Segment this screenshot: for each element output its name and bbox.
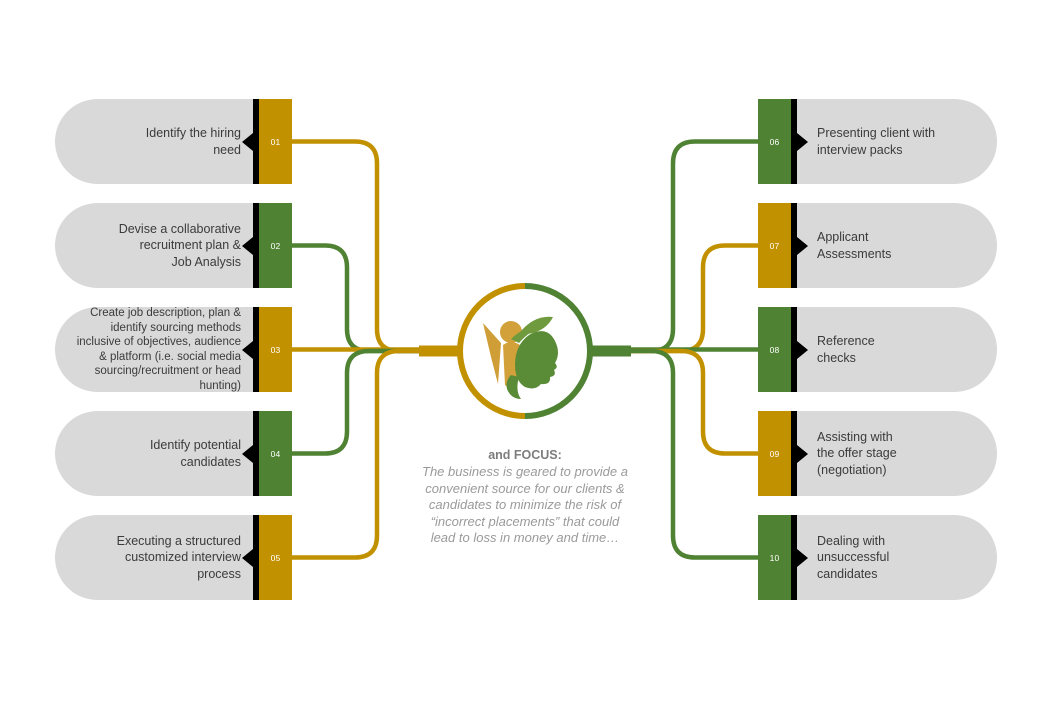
- step-card-02-number: 02: [259, 203, 292, 288]
- step-card-07-number: 07: [758, 203, 791, 288]
- connector-04: [292, 351, 425, 454]
- step-card-05-body: Executing a structured customized interv…: [55, 515, 253, 600]
- step-card-05-number: 05: [259, 515, 292, 600]
- step-card-09[interactable]: 09 Assisting with the offer stage (negot…: [758, 411, 997, 496]
- step-card-10[interactable]: 10 Dealing with unsuccessful candidates: [758, 515, 997, 600]
- connector-09: [625, 351, 758, 454]
- connector-01: [292, 142, 425, 352]
- step-card-05[interactable]: Executing a structured customized interv…: [55, 515, 292, 600]
- step-card-02-label: Devise a collaborative recruitment plan …: [119, 221, 241, 271]
- step-card-03-body: Create job description, plan & identify …: [55, 307, 253, 392]
- step-card-08-body: Reference checks: [797, 307, 997, 392]
- step-card-06-label: Presenting client with interview packs: [817, 125, 935, 158]
- step-card-01-body: Identify the hiring need: [55, 99, 253, 184]
- arrow-icon: [242, 237, 253, 255]
- step-card-02-body: Devise a collaborative recruitment plan …: [55, 203, 253, 288]
- step-card-10-label: Dealing with unsuccessful candidates: [817, 533, 889, 583]
- arrow-icon: [242, 549, 253, 567]
- step-card-04[interactable]: Identify potential candidates 04: [55, 411, 292, 496]
- connector-06: [625, 142, 758, 352]
- step-card-10-number: 10: [758, 515, 791, 600]
- step-card-03[interactable]: Create job description, plan & identify …: [55, 307, 292, 392]
- diagram-canvas: and FOCUS: The business is geared to pro…: [0, 0, 1040, 720]
- step-card-04-number: 04: [259, 411, 292, 496]
- step-card-02[interactable]: Devise a collaborative recruitment plan …: [55, 203, 292, 288]
- step-card-06-number: 06: [758, 99, 791, 184]
- arrow-icon: [797, 549, 808, 567]
- step-card-07-label: Applicant Assessments: [817, 229, 891, 262]
- step-card-10-body: Dealing with unsuccessful candidates: [797, 515, 997, 600]
- step-card-03-label: Create job description, plan & identify …: [77, 306, 241, 393]
- arrow-icon: [797, 237, 808, 255]
- arrow-icon: [797, 341, 808, 359]
- step-card-09-label: Assisting with the offer stage (negotiat…: [817, 429, 897, 479]
- focus-body: The business is geared to provide a conv…: [385, 464, 665, 547]
- arrow-icon: [797, 445, 808, 463]
- step-card-07[interactable]: 07 Applicant Assessments: [758, 203, 997, 288]
- focus-caption: and FOCUS: The business is geared to pro…: [385, 447, 665, 547]
- connector-02: [292, 246, 425, 352]
- step-card-08-number: 08: [758, 307, 791, 392]
- step-card-05-label: Executing a structured customized interv…: [117, 533, 241, 583]
- step-card-06[interactable]: 06 Presenting client with interview pack…: [758, 99, 997, 184]
- step-card-01-number: 01: [259, 99, 292, 184]
- step-card-04-label: Identify potential candidates: [150, 437, 241, 470]
- step-card-09-number: 09: [758, 411, 791, 496]
- arrow-icon: [242, 445, 253, 463]
- focus-heading: and FOCUS:: [385, 447, 665, 464]
- step-card-06-body: Presenting client with interview packs: [797, 99, 997, 184]
- logo: [455, 281, 595, 421]
- step-card-01-label: Identify the hiring need: [146, 125, 241, 158]
- logo-svg: [455, 281, 595, 421]
- arrow-icon: [797, 133, 808, 151]
- step-card-09-body: Assisting with the offer stage (negotiat…: [797, 411, 997, 496]
- step-card-01[interactable]: Identify the hiring need 01: [55, 99, 292, 184]
- step-card-08[interactable]: 08 Reference checks: [758, 307, 997, 392]
- step-card-08-label: Reference checks: [817, 333, 875, 366]
- arrow-icon: [242, 341, 253, 359]
- step-card-04-body: Identify potential candidates: [55, 411, 253, 496]
- connector-07: [625, 246, 758, 352]
- step-card-07-body: Applicant Assessments: [797, 203, 997, 288]
- step-card-03-number: 03: [259, 307, 292, 392]
- arrow-icon: [242, 133, 253, 151]
